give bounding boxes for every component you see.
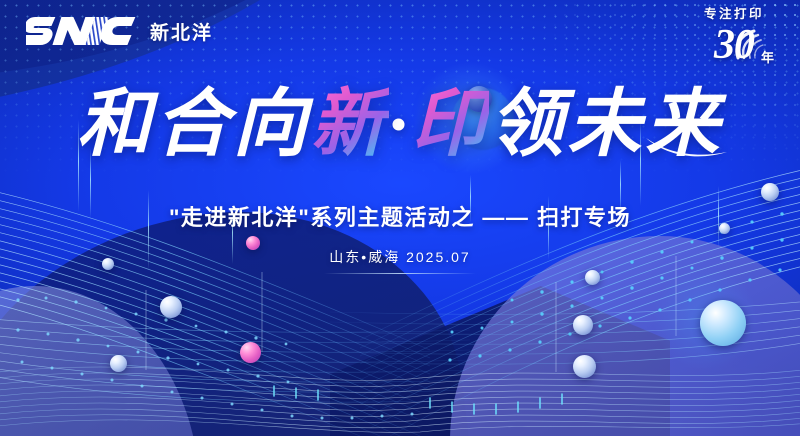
hero-title: 和合向新·印领未来 — [77, 88, 724, 162]
anniversary-number-row: 30 年 — [682, 22, 786, 68]
sphere-pink-mid — [240, 342, 261, 363]
hero-title-separator: · — [389, 84, 412, 166]
hero-meta-underline — [324, 273, 476, 274]
sphere-right-big — [700, 300, 746, 346]
hero-title-part-2-accent: 新 — [311, 84, 389, 166]
hero-subtitle: "走进新北洋"系列主题活动之 —— 扫打专场 — [0, 200, 800, 232]
sphere-right-low — [573, 315, 593, 335]
title-brush-swish-icon — [645, 134, 729, 160]
sphere-bottom-left — [573, 355, 596, 378]
hero-title-part-1: 和合向 — [77, 84, 311, 166]
sphere-lower-left — [110, 355, 127, 372]
brand-logo[interactable]: 新北洋 — [26, 14, 213, 48]
hero-meta-line: 山东•威海 2025.07 — [323, 247, 476, 271]
hero-meta-block: 山东•威海 2025.07 — [0, 247, 800, 274]
anniversary-unit: 年 — [761, 47, 774, 66]
brand-logo-cn-name: 新北洋 — [150, 18, 213, 45]
anniversary-badge: 专注打印 30 年 — [682, 8, 786, 68]
hero-title-part-4-accent: 印 — [411, 84, 489, 166]
event-banner: 新北洋 专注打印 30 年 和合向新·印领未来 "走进新北洋 — [0, 0, 800, 436]
anniversary-tagline: 专注打印 — [682, 8, 786, 21]
sphere-mid-center — [160, 296, 182, 318]
sphere-right-top — [761, 183, 779, 201]
snbc-logo-icon — [26, 14, 138, 48]
hero-title-block: 和合向新·印领未来 — [0, 88, 800, 162]
